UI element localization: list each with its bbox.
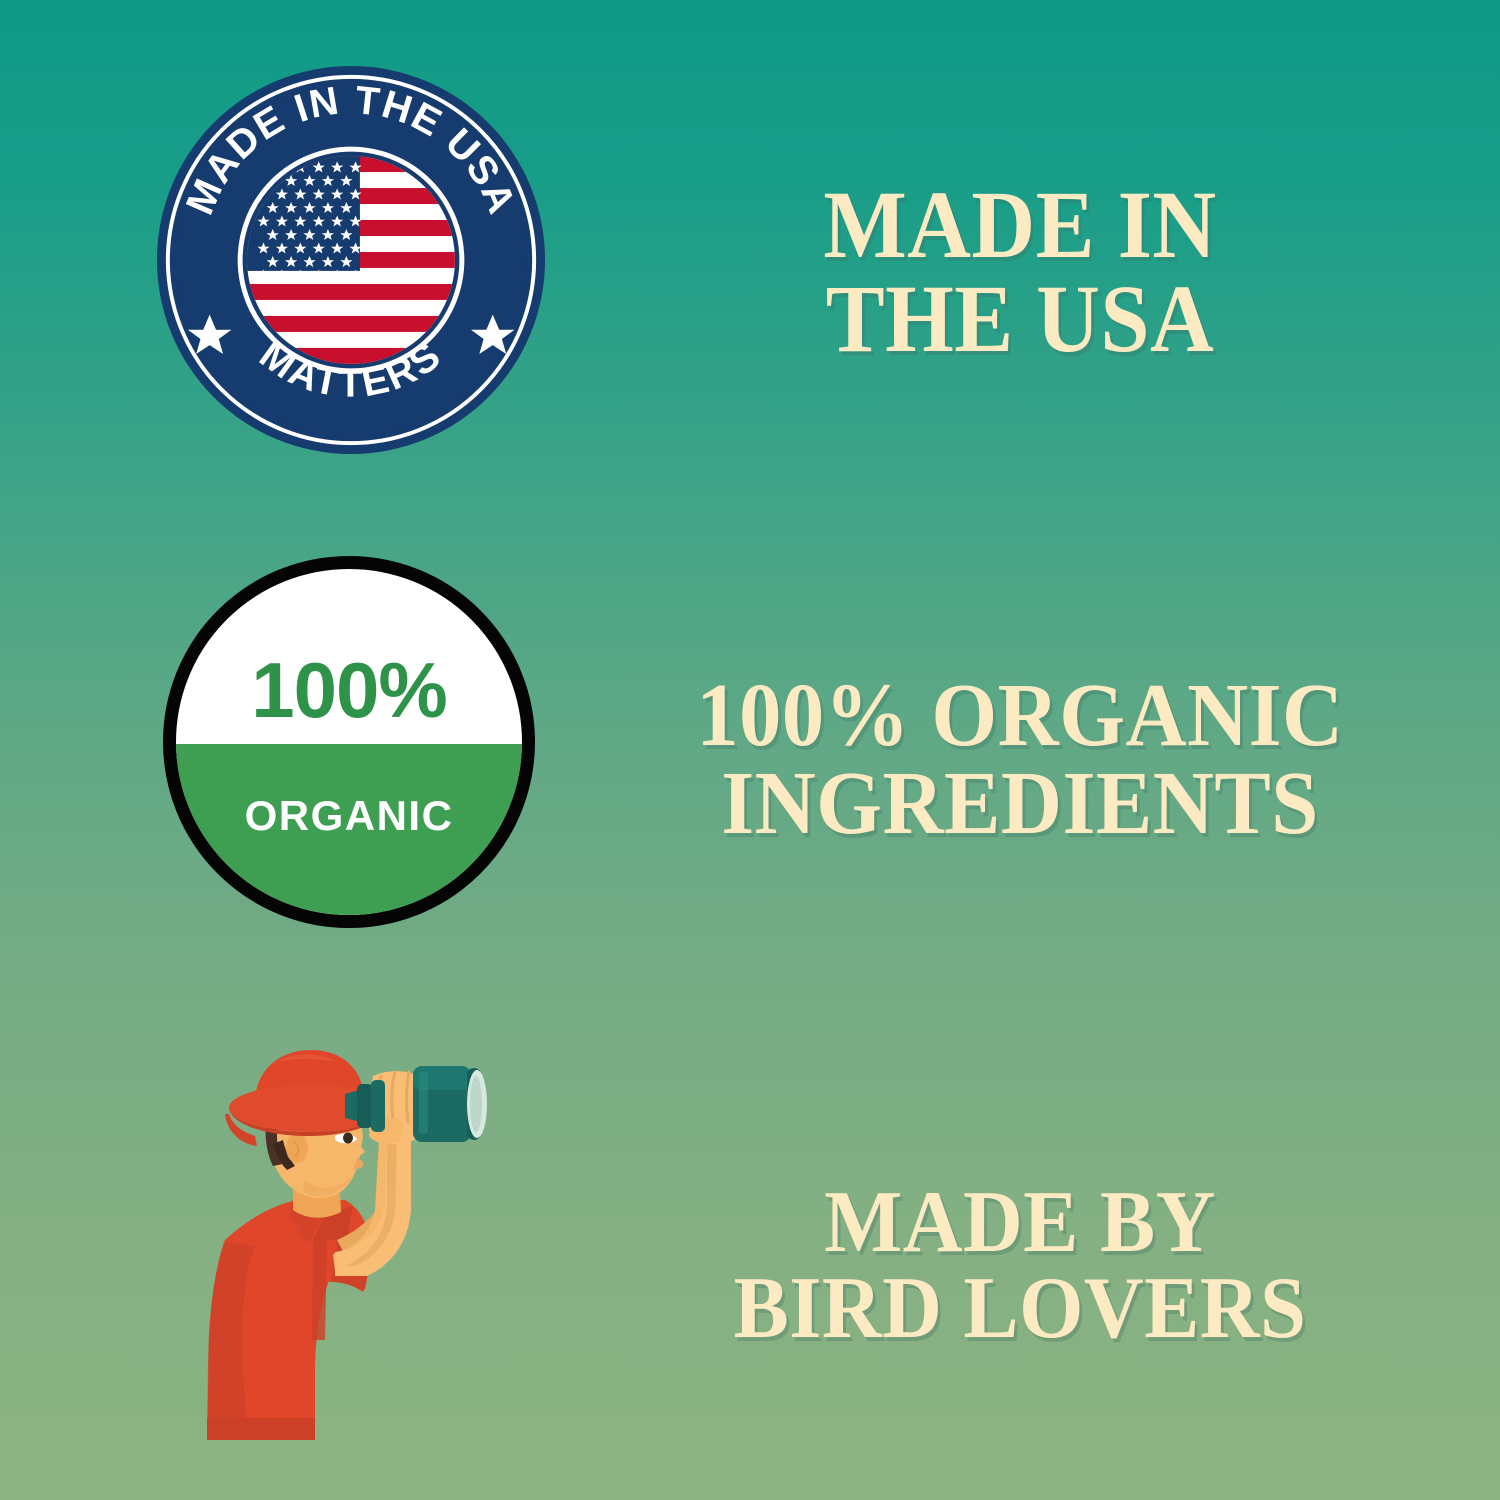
shirt bbox=[207, 1198, 371, 1440]
organic-badge-disc: 100% ORGANIC bbox=[163, 556, 535, 928]
ear bbox=[286, 1133, 308, 1163]
headline-line: 100% ORGANIC bbox=[625, 672, 1415, 760]
organic-badge-label: ORGANIC bbox=[176, 792, 522, 840]
spotting-scope-icon bbox=[345, 1066, 487, 1142]
headline-line: MADE IN bbox=[670, 178, 1369, 272]
organic-badge-icon: 100% ORGANIC bbox=[163, 556, 535, 928]
product-feature-poster: MADE IN THE USA MATTERS MADE IN THE USA … bbox=[0, 0, 1500, 1500]
headline-made-in-the-usa: MADE IN THE USA bbox=[670, 178, 1369, 366]
headline-line: MADE BY bbox=[644, 1180, 1396, 1266]
organic-badge-percent: 100% bbox=[176, 645, 522, 736]
headline-line: THE USA bbox=[670, 272, 1369, 366]
headline-made-by-bird-lovers: MADE BY BIRD LOVERS bbox=[644, 1180, 1396, 1352]
headline-line: INGREDIENTS bbox=[625, 760, 1415, 848]
headline-line: BIRD LOVERS bbox=[644, 1266, 1396, 1352]
headline-100-percent-organic-ingredients: 100% ORGANIC INGREDIENTS bbox=[625, 672, 1415, 848]
birdwatcher-illustration bbox=[185, 1040, 525, 1460]
made-in-usa-badge-icon: MADE IN THE USA MATTERS bbox=[153, 62, 549, 458]
